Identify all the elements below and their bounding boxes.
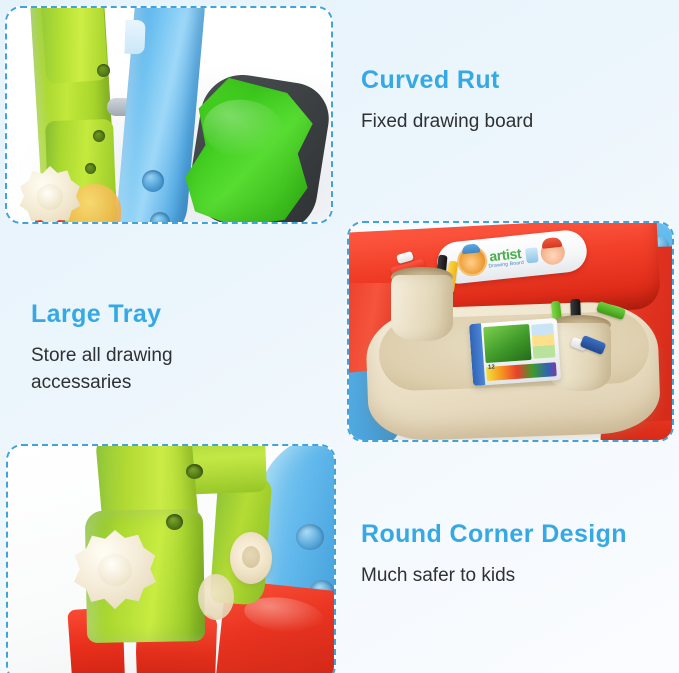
screw-hole-icon — [85, 163, 96, 174]
feature-text-curved-rut: Curved Rut Fixed drawing board — [361, 66, 533, 136]
photo-large-tray: artist Drawing Board — [349, 223, 672, 440]
brand-text-group: artist Drawing Board — [487, 246, 525, 270]
feature-description-large-tray: Store all drawing accessaries — [31, 343, 261, 397]
blue-panel-dimple — [296, 524, 324, 550]
washer-center — [242, 546, 260, 568]
cream-hinge-part — [198, 574, 234, 620]
screw-hole-icon — [186, 464, 203, 479]
feature-text-round-corner: Round Corner Design Much safer to kids — [361, 520, 627, 590]
product-feature-infographic: Curved Rut Fixed drawing board Large Tra… — [0, 0, 679, 673]
feature-title-large-tray: Large Tray — [31, 300, 261, 329]
left-marker-cup — [391, 275, 453, 341]
crayon-box-count: 12 — [488, 364, 495, 370]
screw-hole-icon — [97, 64, 110, 77]
knob-center — [98, 554, 132, 586]
lion-mascot-icon — [458, 247, 487, 276]
knob-center — [37, 184, 63, 210]
feature-photo-panel-large-tray: artist Drawing Board — [347, 221, 674, 442]
photo-curved-rut — [7, 8, 331, 222]
feature-description-round-corner: Much safer to kids — [361, 563, 627, 590]
feature-photo-panel-curved-rut — [5, 6, 333, 224]
feature-title-curved-rut: Curved Rut — [361, 66, 533, 95]
photo-round-corner — [8, 446, 334, 673]
paint-cup-icon — [525, 247, 539, 263]
blue-leg-notch — [124, 20, 145, 55]
crayon-box-color-chips — [531, 323, 555, 358]
screw-hole-icon — [93, 130, 105, 142]
crayon-box: 12 — [469, 318, 561, 386]
crayon-box-color-strip — [486, 362, 557, 381]
feature-description-curved-rut: Fixed drawing board — [361, 109, 533, 136]
girl-mascot-icon — [540, 239, 566, 265]
feature-title-round-corner: Round Corner Design — [361, 520, 627, 549]
brand-subtitle: Drawing Board — [488, 261, 524, 270]
crayon-box-artwork — [483, 324, 531, 363]
screw-hole-icon — [166, 514, 183, 530]
blue-leg-dimple — [142, 170, 164, 192]
feature-text-large-tray: Large Tray Store all drawing accessaries — [31, 300, 261, 397]
feature-photo-panel-round-corner — [6, 444, 336, 673]
